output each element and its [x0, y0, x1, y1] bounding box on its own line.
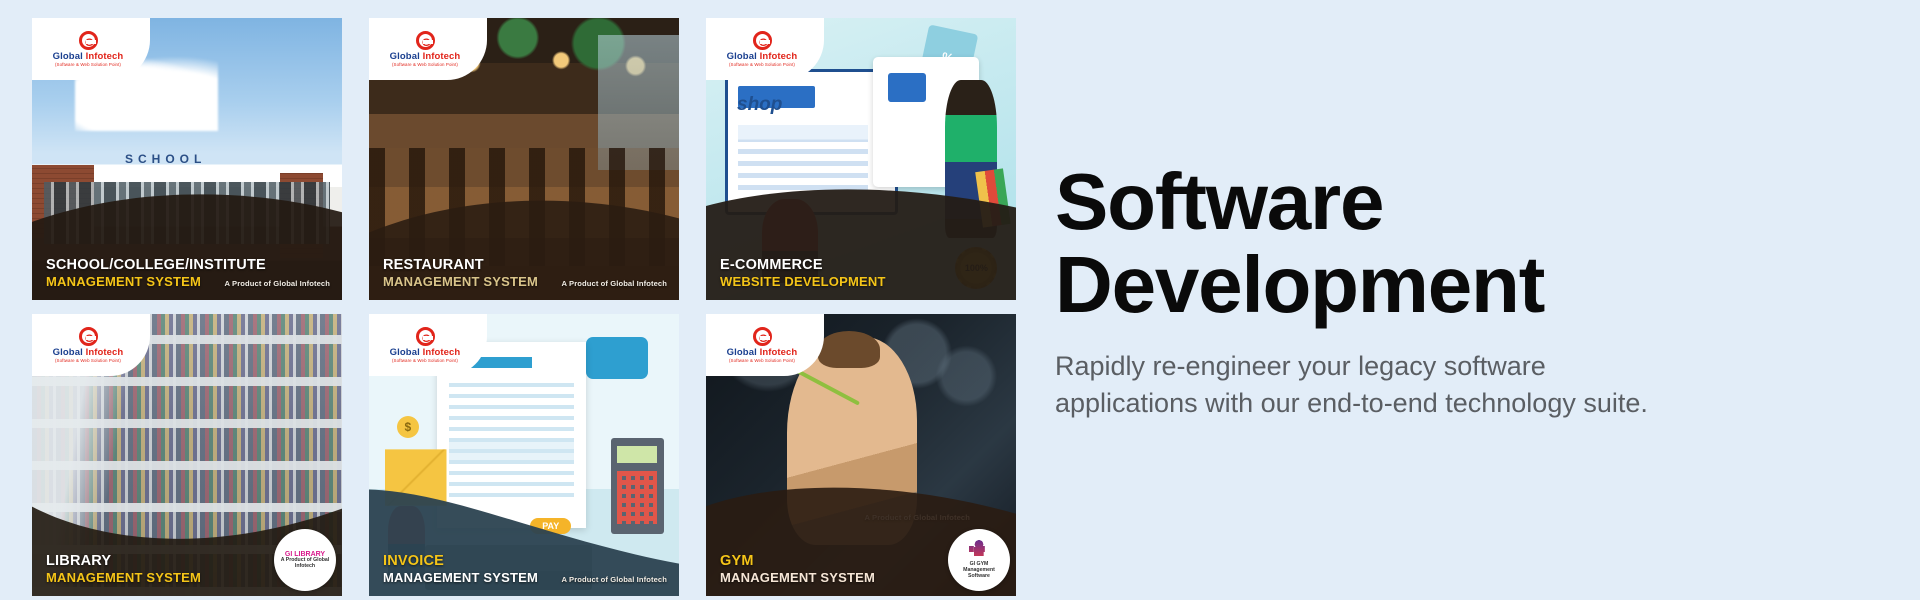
global-infotech-logo-badge: G Global Infotech (Software & Web Soluti…: [369, 314, 487, 376]
monitor-graphic: [725, 69, 899, 216]
logo-g-icon: G: [753, 31, 772, 50]
logo-letter: G: [759, 38, 768, 49]
card-title: RESTAURANT: [383, 256, 667, 274]
logo-g-icon: G: [416, 327, 435, 346]
chat-bubble-icon: [586, 337, 648, 379]
software-development-banner: SCHOOL G Global Infotech (Software & Web…: [0, 0, 1920, 600]
card-credit: A Product of Global Infotech: [865, 513, 970, 522]
school-brick-left: [32, 165, 94, 238]
page-title: Software Development: [1055, 160, 1655, 326]
product-card-gallery: SCHOOL G Global Infotech (Software & Web…: [32, 18, 1032, 588]
global-infotech-logo-badge: G Global Infotech (Software & Web Soluti…: [369, 18, 487, 80]
product-card-ecommerce[interactable]: % shop G Global Infotech (Software & Web…: [706, 18, 1016, 300]
card-caption-school: SCHOOL/COLLEGE/INSTITUTE MANAGEMENT SYST…: [32, 247, 342, 300]
product-card-library[interactable]: G Global Infotech (Software & Web Soluti…: [32, 314, 342, 596]
school-brick-right: [280, 173, 323, 258]
hero-subtitle: Rapidly re-engineer your legacy software…: [1055, 348, 1855, 421]
card-title: E-COMMERCE: [720, 256, 1004, 274]
logo-tagline: (Software & Web Solution Point): [729, 62, 795, 67]
badge-subtitle: A Product of Global Infotech: [278, 558, 332, 570]
global-infotech-logo-badge: G Global Infotech (Software & Web Soluti…: [32, 314, 150, 376]
card-credit: A Product of Global Infotech: [562, 575, 667, 584]
logo-g-icon: G: [753, 327, 772, 346]
logo-name: Global Infotech: [53, 51, 124, 62]
card-title: SCHOOL/COLLEGE/INSTITUTE: [46, 256, 330, 274]
logo-tagline: (Software & Web Solution Point): [392, 62, 458, 67]
school-signage-text: SCHOOL: [125, 152, 206, 166]
shop-label: shop: [737, 94, 782, 116]
logo-tagline: (Software & Web Solution Point): [729, 358, 795, 363]
logo-name: Global Infotech: [727, 347, 798, 358]
logo-g-icon: G: [79, 31, 98, 50]
gym-product-badge: GI GYM Management Software: [948, 529, 1010, 591]
logo-name: Global Infotech: [53, 347, 124, 358]
headline-line-1: Software: [1055, 160, 1655, 243]
logo-g-icon: G: [416, 31, 435, 50]
logo-tagline: (Software & Web Solution Point): [55, 358, 121, 363]
product-card-invoice[interactable]: $ PAY G Global Infotech (Software & Web …: [369, 314, 679, 596]
card-caption-restaurant: RESTAURANT MANAGEMENT SYSTEM A Product o…: [369, 247, 679, 300]
card-credit: A Product of Global Infotech: [225, 279, 330, 288]
subtitle-line-2: applications with our end-to-end technol…: [1055, 385, 1855, 421]
logo-name: Global Infotech: [727, 51, 798, 62]
logo-name: Global Infotech: [390, 347, 461, 358]
logo-letter: G: [759, 334, 768, 345]
flexing-muscle-icon: [968, 540, 990, 560]
logo-tagline: (Software & Web Solution Point): [55, 62, 121, 67]
subtitle-line-1: Rapidly re-engineer your legacy software: [1055, 348, 1855, 384]
money-coin-icon: $: [397, 416, 419, 438]
headline-line-2: Development: [1055, 243, 1655, 326]
pay-button[interactable]: PAY: [530, 518, 571, 534]
card-caption-invoice: INVOICE MANAGEMENT SYSTEM A Product of G…: [369, 543, 679, 596]
card-title: INVOICE: [383, 552, 667, 570]
product-card-school[interactable]: SCHOOL G Global Infotech (Software & Web…: [32, 18, 342, 300]
hero-copy-block: Software Development Rapidly re-engineer…: [1055, 160, 1885, 421]
logo-tagline: (Software & Web Solution Point): [392, 358, 458, 363]
logo-letter: G: [422, 38, 431, 49]
calculator-icon: [611, 438, 664, 534]
envelope-icon: [385, 449, 447, 505]
product-card-gym[interactable]: G Global Infotech (Software & Web Soluti…: [706, 314, 1016, 596]
card-credit: A Product of Global Infotech: [562, 279, 667, 288]
card-caption-ecommerce: E-COMMERCE WEBSITE DEVELOPMENT: [706, 247, 1016, 300]
global-infotech-logo-badge: G Global Infotech (Software & Web Soluti…: [32, 18, 150, 80]
global-infotech-logo-badge: G Global Infotech (Software & Web Soluti…: [706, 314, 824, 376]
logo-letter: G: [422, 334, 431, 345]
library-product-badge: GI LIBRARY A Product of Global Infotech: [274, 529, 336, 591]
badge-subtitle: Management Software: [952, 568, 1006, 580]
logo-g-icon: G: [79, 327, 98, 346]
product-card-restaurant[interactable]: G Global Infotech (Software & Web Soluti…: [369, 18, 679, 300]
logo-letter: G: [85, 38, 94, 49]
global-infotech-logo-badge: G Global Infotech (Software & Web Soluti…: [706, 18, 824, 80]
card-subtitle: WEBSITE DEVELOPMENT: [720, 274, 1004, 290]
athlete-hair: [818, 331, 880, 368]
restaurant-window: [598, 35, 679, 170]
logo-letter: G: [85, 334, 94, 345]
logo-name: Global Infotech: [390, 51, 461, 62]
